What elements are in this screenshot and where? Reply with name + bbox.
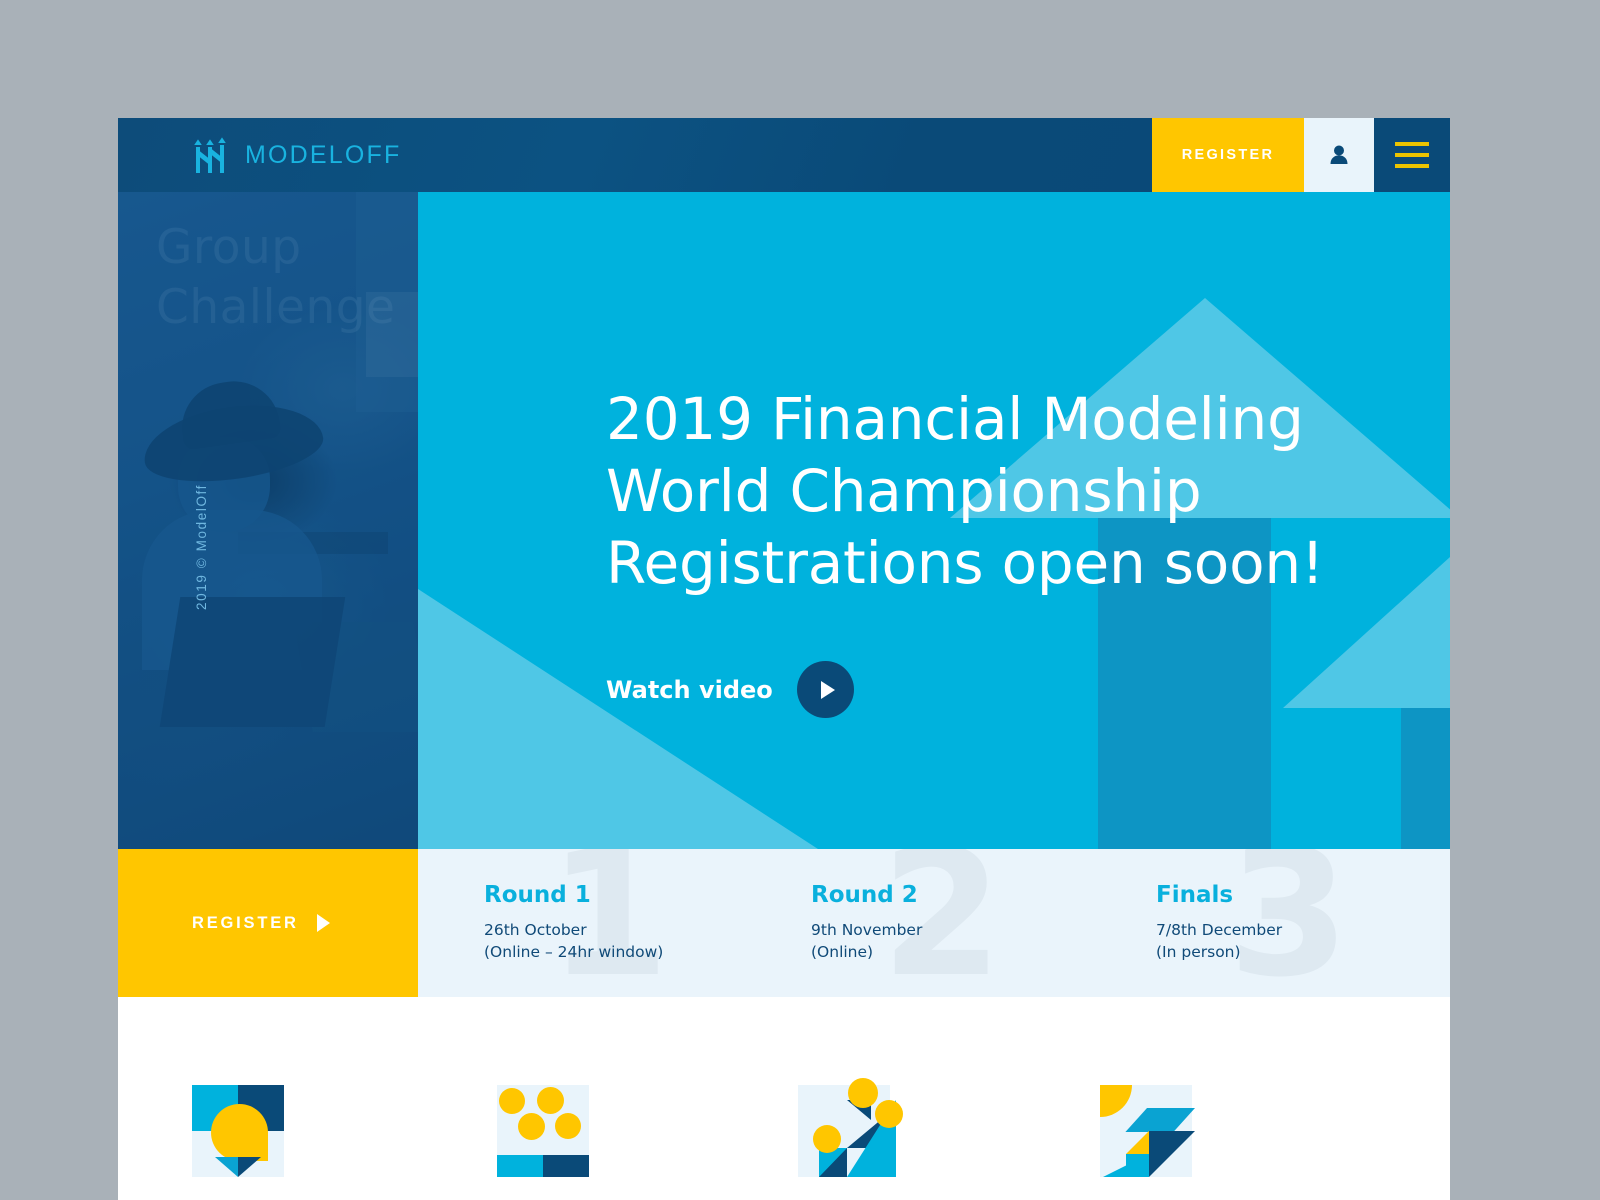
round-date-1: 26th October (Online – 24hr window) bbox=[484, 919, 663, 964]
icon-square-cyan bbox=[1126, 1154, 1149, 1177]
round-mode-1: (Online – 24hr window) bbox=[484, 943, 663, 961]
hero-image-tint bbox=[118, 192, 418, 849]
header-register-label: REGISTER bbox=[1182, 147, 1275, 163]
arrow-right-icon bbox=[317, 914, 330, 932]
icon-base-navy bbox=[543, 1155, 589, 1177]
hamburger-menu-icon bbox=[1395, 142, 1429, 146]
round-date-3: 7/8th December (In person) bbox=[1156, 919, 1282, 964]
icon-triangle-navy bbox=[238, 1157, 261, 1177]
hero-image-panel: GroupChallenge 2019 © ModelOff bbox=[118, 192, 418, 849]
round-item-2: 2 Round 2 9th November (Online) bbox=[763, 849, 1108, 997]
round-date-value-3: 7/8th December bbox=[1156, 921, 1282, 939]
icon-triangle-navy-large bbox=[1149, 1131, 1195, 1177]
rounds-strip: REGISTER 1 Round 1 26th October (Online … bbox=[118, 849, 1450, 997]
icon-coin-1 bbox=[499, 1088, 525, 1114]
round-mode-3: (In person) bbox=[1156, 943, 1241, 961]
play-icon[interactable] bbox=[797, 661, 854, 718]
live-finals-icon bbox=[192, 1085, 284, 1177]
round-date-value-2: 9th November bbox=[811, 921, 922, 939]
hero-title: 2019 Financial Modeling World Championsh… bbox=[606, 383, 1324, 600]
rounds-list: 1 Round 1 26th October (Online – 24hr wi… bbox=[418, 849, 1450, 997]
hero-title-line-1: 2019 Financial Modeling bbox=[606, 385, 1304, 453]
hamburger-line-3 bbox=[1395, 164, 1429, 168]
hero-content-panel: 2019 Financial Modeling World Championsh… bbox=[418, 192, 1450, 849]
watch-video-button[interactable]: Watch video bbox=[606, 661, 854, 718]
round-title-2: Round 2 bbox=[811, 882, 918, 908]
brand-logo[interactable]: MODELOFF bbox=[192, 133, 402, 177]
round-mode-2: (Online) bbox=[811, 943, 873, 961]
icon-medal-top bbox=[848, 1078, 878, 1108]
hero-title-line-3: Registrations open soon! bbox=[606, 529, 1324, 597]
hamburger-line-2 bbox=[1395, 153, 1429, 157]
feature-item-case-approach[interactable]: Case Approach bbox=[1100, 1085, 1400, 1200]
cash-prizes-icon bbox=[497, 1085, 589, 1177]
hero-image-credit: 2019 © ModelOff bbox=[194, 484, 209, 610]
icon-yellow-drop bbox=[211, 1104, 268, 1161]
icon-triangle-yellow bbox=[1126, 1131, 1149, 1154]
hero-title-line-2: World Championship bbox=[606, 457, 1201, 525]
hamburger-menu-button[interactable] bbox=[1374, 118, 1450, 192]
rankings-icon bbox=[798, 1085, 890, 1177]
hero-section: GroupChallenge 2019 © ModelOff 2019 Fina… bbox=[118, 192, 1450, 849]
icon-coin-4 bbox=[555, 1113, 581, 1139]
three-arrows-logo-icon bbox=[192, 136, 232, 174]
round-title-1: Round 1 bbox=[484, 882, 591, 908]
watch-video-label: Watch video bbox=[606, 676, 773, 704]
user-icon bbox=[1326, 142, 1352, 168]
play-triangle bbox=[821, 681, 835, 699]
round-date-value-1: 26th October bbox=[484, 921, 587, 939]
features-section: In person 'live' finals $10,000 of cash … bbox=[118, 997, 1450, 1200]
icon-medal-left bbox=[813, 1125, 841, 1153]
register-cta-button[interactable]: REGISTER bbox=[118, 849, 418, 997]
feature-item-live-finals[interactable]: In person 'live' finals bbox=[192, 1085, 492, 1200]
header-register-button[interactable]: REGISTER bbox=[1152, 118, 1304, 192]
feature-item-cash-prizes[interactable]: $10,000 of cash prizes bbox=[497, 1085, 797, 1200]
site-header: MODELOFF REGISTER bbox=[118, 118, 1450, 192]
round-item-1: 1 Round 1 26th October (Online – 24hr wi… bbox=[418, 849, 763, 997]
feature-item-rankings[interactable]: Global Rankings & Certification bbox=[798, 1085, 1098, 1200]
icon-coin-3 bbox=[518, 1113, 545, 1140]
icon-medal-right bbox=[875, 1100, 903, 1128]
icon-base-cyan bbox=[497, 1155, 543, 1177]
round-date-2: 9th November (Online) bbox=[811, 919, 922, 964]
account-button[interactable] bbox=[1304, 118, 1374, 192]
round-title-3: Finals bbox=[1156, 882, 1233, 908]
brand-name: MODELOFF bbox=[245, 143, 402, 168]
icon-triangle-cyan bbox=[215, 1157, 238, 1177]
register-cta-label: REGISTER bbox=[192, 914, 299, 933]
round-item-3: 3 Finals 7/8th December (In person) bbox=[1108, 849, 1450, 997]
page-container: MODELOFF REGISTER bbox=[118, 118, 1450, 1200]
case-approach-icon bbox=[1100, 1085, 1192, 1177]
icon-coin-2 bbox=[537, 1087, 564, 1114]
